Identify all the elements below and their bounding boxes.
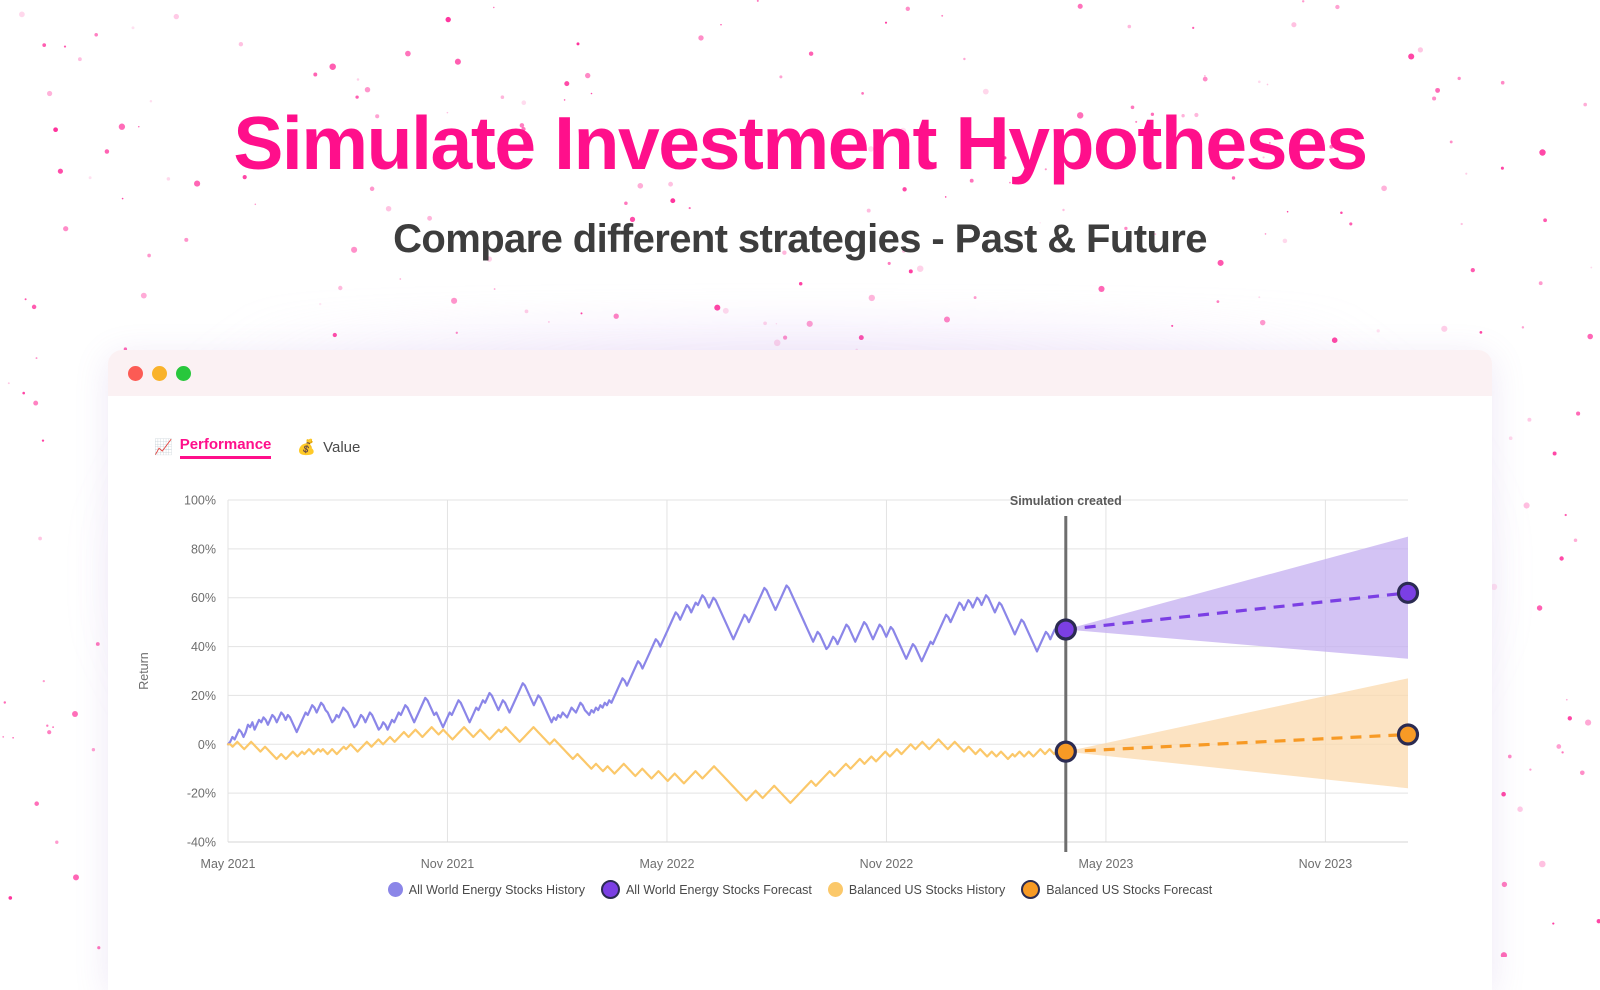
forecast-start-marker[interactable] bbox=[1056, 620, 1075, 639]
legend-swatch-icon bbox=[601, 880, 620, 899]
legend-swatch-icon bbox=[388, 882, 403, 897]
history-series-line bbox=[228, 727, 1066, 803]
window-titlebar bbox=[108, 350, 1492, 396]
y-axis-tick-label: 20% bbox=[191, 689, 216, 703]
legend-swatch-icon bbox=[828, 882, 843, 897]
page-subtitle: Compare different strategies - Past & Fu… bbox=[0, 217, 1600, 262]
maximize-button-icon[interactable] bbox=[176, 366, 191, 381]
legend-item-label: Balanced US Stocks Forecast bbox=[1046, 883, 1212, 897]
y-axis-tick-label: 40% bbox=[191, 640, 216, 654]
legend-item[interactable]: All World Energy Stocks History bbox=[388, 882, 585, 897]
hero-section: Simulate Investment Hypotheses Compare d… bbox=[0, 0, 1600, 262]
tab-performance[interactable]: 📈 Performance bbox=[154, 436, 271, 464]
forecast-start-marker[interactable] bbox=[1056, 742, 1075, 761]
chart-legend: All World Energy Stocks HistoryAll World… bbox=[108, 880, 1492, 899]
y-axis-tick-label: 100% bbox=[184, 494, 216, 508]
y-axis-tick-label: -40% bbox=[187, 836, 216, 850]
browser-window: 📈 Performance 💰 Value 100%80%60%40%20%0%… bbox=[108, 350, 1492, 990]
minimize-button-icon[interactable] bbox=[152, 366, 167, 381]
money-bag-icon: 💰 bbox=[297, 440, 316, 455]
tab-value[interactable]: 💰 Value bbox=[297, 439, 360, 461]
y-axis-tick-label: -20% bbox=[187, 787, 216, 801]
legend-swatch-icon bbox=[1021, 880, 1040, 899]
tab-value-label: Value bbox=[323, 439, 360, 456]
x-axis-tick-label: May 2021 bbox=[201, 857, 256, 871]
y-axis-tick-label: 80% bbox=[191, 542, 216, 556]
tab-performance-label: Performance bbox=[180, 436, 272, 459]
x-axis-tick-label: Nov 2023 bbox=[1299, 857, 1353, 871]
tab-bar: 📈 Performance 💰 Value bbox=[108, 396, 1492, 464]
forecast-confidence-band bbox=[1066, 678, 1408, 788]
x-axis-tick-label: May 2023 bbox=[1078, 857, 1133, 871]
forecast-end-marker[interactable] bbox=[1399, 725, 1418, 744]
simulation-created-label: Simulation created bbox=[1010, 494, 1122, 508]
y-axis-tick-label: 60% bbox=[191, 591, 216, 605]
legend-item-label: Balanced US Stocks History bbox=[849, 883, 1005, 897]
legend-item[interactable]: Balanced US Stocks History bbox=[828, 882, 1005, 897]
history-series-line bbox=[228, 586, 1066, 745]
legend-item[interactable]: Balanced US Stocks Forecast bbox=[1021, 880, 1212, 899]
legend-item[interactable]: All World Energy Stocks Forecast bbox=[601, 880, 812, 899]
x-axis-tick-label: Nov 2022 bbox=[860, 857, 914, 871]
legend-item-label: All World Energy Stocks Forecast bbox=[626, 883, 812, 897]
page-title: Simulate Investment Hypotheses bbox=[0, 104, 1600, 183]
close-button-icon[interactable] bbox=[128, 366, 143, 381]
legend-item-label: All World Energy Stocks History bbox=[409, 883, 585, 897]
forecast-end-marker[interactable] bbox=[1399, 583, 1418, 602]
x-axis-tick-label: Nov 2021 bbox=[421, 857, 475, 871]
y-axis-title: Return bbox=[137, 652, 151, 690]
x-axis-tick-label: May 2022 bbox=[640, 857, 695, 871]
y-axis-tick-label: 0% bbox=[198, 738, 216, 752]
chart-increasing-icon: 📈 bbox=[154, 440, 173, 455]
